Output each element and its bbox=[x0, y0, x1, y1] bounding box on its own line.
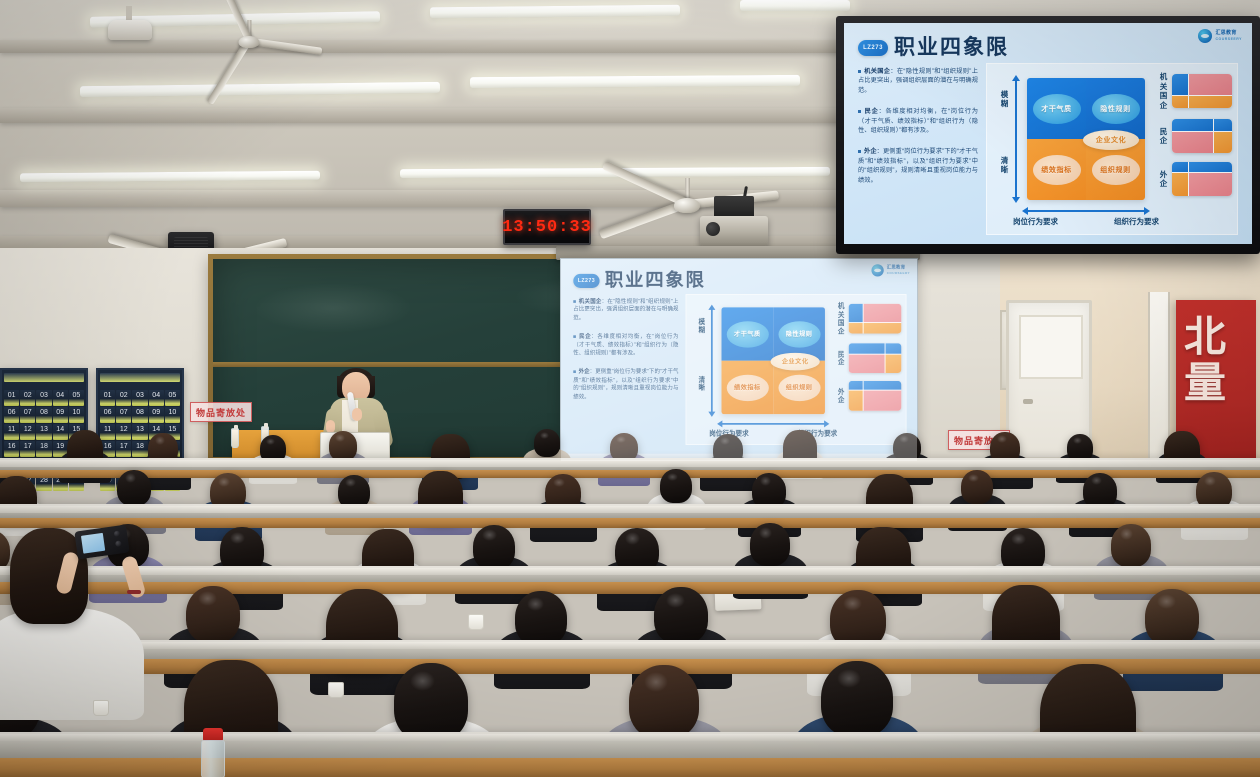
x-axis bbox=[721, 423, 824, 425]
student-head bbox=[117, 470, 151, 506]
hair-highlight bbox=[553, 478, 565, 488]
y-axis bbox=[711, 309, 713, 412]
desk-top-edge bbox=[0, 460, 1260, 467]
treemap-cell bbox=[849, 391, 863, 411]
bullet-marker-icon bbox=[858, 110, 861, 113]
mini-chart-row: 外企 bbox=[837, 381, 904, 411]
storage-pocket[interactable]: 04 bbox=[149, 390, 164, 406]
treemap-cell bbox=[1172, 74, 1188, 95]
storage-pocket[interactable]: 05 bbox=[165, 390, 180, 406]
quadrant-center-label: 企业文化 bbox=[771, 353, 820, 371]
mini-treemap bbox=[1172, 162, 1232, 196]
brand-logo: 汇思教育COURSEERY bbox=[1198, 29, 1242, 43]
presenter-hand bbox=[352, 408, 362, 421]
storage-pocket[interactable]: 05 bbox=[69, 390, 84, 406]
student-head bbox=[1145, 589, 1199, 646]
treemap-cell bbox=[1214, 119, 1232, 131]
treemap-cell bbox=[1189, 74, 1232, 95]
student-desk-row bbox=[0, 566, 1260, 594]
hair-highlight bbox=[540, 432, 549, 439]
water-bottle bbox=[200, 728, 226, 777]
logo-mark-icon bbox=[1198, 29, 1212, 43]
desk-cup bbox=[93, 700, 109, 716]
bullet-marker-icon bbox=[573, 300, 576, 303]
desk-cup bbox=[468, 614, 484, 630]
storage-pocket[interactable]: 14 bbox=[53, 424, 68, 440]
projection-screen: 汇思教育COURSEERYLZ273职业四象限机关国企：在“隐性规则”和“组织规… bbox=[560, 258, 918, 462]
quadrant-center-label: 企业文化 bbox=[1083, 130, 1139, 150]
storage-pocket[interactable]: 12 bbox=[116, 424, 131, 440]
mini-chart-column: 机关国企民企外企 bbox=[1159, 72, 1235, 205]
hair-highlight bbox=[899, 435, 909, 443]
desk-top-edge bbox=[0, 506, 1260, 513]
hair-highlight bbox=[125, 473, 137, 482]
storage-pocket[interactable]: 08 bbox=[36, 407, 51, 423]
hair-highlight bbox=[345, 478, 356, 487]
treemap-cell bbox=[885, 343, 901, 353]
treemap-cell bbox=[863, 381, 901, 390]
treemap-cell bbox=[1189, 173, 1232, 196]
hair-highlight bbox=[410, 671, 435, 691]
mini-chart-row: 民企 bbox=[1159, 119, 1235, 153]
ceiling-projector bbox=[700, 216, 768, 246]
storage-pocket[interactable]: 10 bbox=[69, 407, 84, 423]
security-camera-icon bbox=[108, 20, 152, 40]
slide-badge: LZ273 bbox=[858, 40, 888, 56]
desk-panel bbox=[0, 470, 1260, 478]
storage-pocket[interactable]: 06 bbox=[100, 407, 115, 423]
wall-television: 汇思教育COURSEERYLZ273职业四象限机关国企：在“隐性规则”和“组织规… bbox=[836, 16, 1260, 254]
student-desk-row bbox=[0, 732, 1260, 777]
storage-pocket[interactable]: 09 bbox=[149, 407, 164, 423]
treemap-cell bbox=[1172, 173, 1188, 196]
hair-highlight bbox=[230, 532, 245, 544]
student-desk-row bbox=[0, 504, 1260, 528]
hair-highlight bbox=[1157, 594, 1175, 609]
fluorescent-light bbox=[740, 0, 850, 11]
desk-panel bbox=[0, 518, 1260, 528]
logo-text: 汇思教育COURSEERY bbox=[1215, 30, 1242, 42]
mini-chart-column: 机关国企民企外企 bbox=[837, 302, 904, 419]
lecture-hall-scene: 北量 13:50:33 0102030405060708091011121314… bbox=[0, 0, 1260, 777]
hair-highlight bbox=[198, 591, 216, 606]
fan-hub bbox=[674, 198, 700, 213]
hair-highlight bbox=[527, 597, 545, 611]
student-head bbox=[629, 665, 699, 739]
desk-top-edge bbox=[0, 734, 1260, 741]
storage-pocket[interactable]: 01 bbox=[100, 390, 115, 406]
audience bbox=[0, 440, 1260, 777]
logo-subtext: COURSEERY bbox=[1215, 36, 1242, 42]
student-head bbox=[329, 431, 357, 461]
student-torso bbox=[0, 608, 144, 720]
desk-panel bbox=[0, 758, 1260, 777]
quadrant-label: 组织规则 bbox=[778, 374, 820, 400]
storage-pocket[interactable]: 09 bbox=[53, 407, 68, 423]
logo-subtext: COURSEERY bbox=[887, 270, 910, 275]
hair-highlight bbox=[1204, 476, 1216, 486]
mini-chart-label: 民企 bbox=[1159, 127, 1168, 146]
student-head bbox=[750, 523, 790, 565]
storage-sign: 物品寄放处 bbox=[190, 402, 252, 422]
hair-highlight bbox=[266, 438, 275, 445]
hair-highlight bbox=[482, 529, 496, 541]
storage-pocket[interactable]: 02 bbox=[116, 390, 131, 406]
storage-pocket[interactable]: 03 bbox=[36, 390, 51, 406]
quadrant-top-left: 才干气质 bbox=[721, 307, 773, 360]
mini-treemap bbox=[849, 304, 902, 334]
storage-pocket[interactable]: 02 bbox=[20, 390, 35, 406]
quadrant-chart: 模糊清晰才干气质隐性规则绩效指标组织规则企业文化岗位行为要求组织行为要求机关国企… bbox=[686, 294, 907, 445]
hair-highlight bbox=[843, 596, 862, 611]
y-axis-label-top: 模糊 bbox=[697, 318, 707, 334]
hair-highlight bbox=[759, 527, 773, 538]
fan-hub bbox=[239, 36, 260, 48]
hair-highlight bbox=[997, 435, 1007, 443]
hair-highlight bbox=[1120, 528, 1134, 539]
mini-treemap bbox=[1172, 119, 1232, 153]
slide-projected: 汇思教育COURSEERYLZ273职业四象限机关国企：在“隐性规则”和“组织规… bbox=[561, 259, 918, 454]
banner-text: 北量 bbox=[1184, 314, 1246, 406]
student-head bbox=[515, 591, 567, 646]
slide-bullet: 外企：更侧重“岗位行为要求”下的“才干气质”和“绩效指标”，以及“组织行为要求”… bbox=[858, 147, 978, 185]
slide-on-tv: 汇思教育COURSEERYLZ273职业四象限机关国企：在“隐性规则”和“组织规… bbox=[844, 23, 1252, 244]
logo-text: 汇思教育COURSEERY bbox=[887, 265, 910, 276]
treemap-cell bbox=[849, 381, 863, 390]
hair-highlight bbox=[335, 434, 345, 442]
storage-pocket[interactable]: 07 bbox=[20, 407, 35, 423]
storage-pocket[interactable]: 03 bbox=[132, 390, 147, 406]
mini-treemap bbox=[1172, 74, 1232, 108]
mini-chart-label: 外企 bbox=[1159, 170, 1168, 189]
slide-bullet: 民企：各维度相对均衡，在“岗位行为（才干气质、绩效指标）”和“组织行为（隐性、组… bbox=[858, 107, 978, 135]
slide-bullet: 机关国企：在“隐性规则”和“组织规则”上占比更突出，强调组织层面的潜在与明确规范… bbox=[858, 67, 978, 95]
bullet-marker-icon bbox=[858, 70, 861, 73]
slide-header: LZ273职业四象限 bbox=[573, 271, 705, 290]
tv-screen: 汇思教育COURSEERYLZ273职业四象限机关国企：在“隐性规则”和“组织规… bbox=[844, 23, 1252, 244]
pocket-board-header bbox=[100, 373, 180, 382]
slide-header: LZ273职业四象限 bbox=[858, 37, 1009, 59]
mini-chart-row: 机关国企 bbox=[1159, 72, 1235, 110]
hair-highlight bbox=[667, 473, 678, 482]
storage-pocket[interactable]: 04 bbox=[53, 390, 68, 406]
hair-highlight bbox=[625, 532, 640, 544]
student-head bbox=[473, 525, 515, 570]
quadrant-label: 才干气质 bbox=[726, 321, 768, 347]
hair-highlight bbox=[1091, 476, 1103, 485]
student-head bbox=[961, 470, 993, 504]
hair-highlight bbox=[720, 437, 730, 445]
slide-title: 职业四象限 bbox=[605, 271, 706, 290]
projector-mount bbox=[714, 196, 754, 218]
hair-highlight bbox=[968, 474, 979, 483]
slide-badge: LZ273 bbox=[573, 274, 599, 288]
y-axis bbox=[1015, 80, 1017, 198]
hair-highlight bbox=[666, 593, 684, 608]
hair-highlight bbox=[760, 476, 772, 485]
quadrant-label: 绩效指标 bbox=[726, 374, 768, 400]
slide-title: 职业四象限 bbox=[894, 37, 1009, 59]
clock-time: 13:50:33 bbox=[502, 218, 592, 237]
y-axis-label-bottom: 清晰 bbox=[697, 376, 707, 392]
storage-pocket[interactable]: 13 bbox=[36, 424, 51, 440]
treemap-cell bbox=[849, 343, 885, 353]
student-head bbox=[186, 586, 240, 643]
treemap-cell bbox=[885, 354, 901, 373]
fan-pole bbox=[685, 178, 690, 200]
hair-highlight bbox=[1073, 437, 1082, 444]
treemap-cell bbox=[1189, 96, 1232, 108]
student-head bbox=[1111, 524, 1151, 566]
slide-bullet: 民企：各维度相对均衡，在“岗位行为（才干气质、绩效指标）”和“组织行为（隐性、组… bbox=[573, 333, 678, 358]
desk-panel bbox=[0, 582, 1260, 594]
x-axis-label-left: 岗位行为要求 bbox=[1013, 216, 1058, 227]
mini-treemap bbox=[849, 343, 902, 373]
x-axis-labels: 岗位行为要求组织行为要求 bbox=[1013, 216, 1159, 227]
treemap-cell bbox=[1172, 96, 1188, 108]
mini-treemap bbox=[849, 381, 902, 411]
digital-wall-clock: 13:50:33 bbox=[503, 209, 591, 245]
desk-cup bbox=[328, 682, 344, 698]
hair-highlight bbox=[616, 436, 626, 444]
chalk-smudge bbox=[253, 283, 413, 333]
hair-highlight bbox=[218, 477, 230, 487]
storage-pocket[interactable]: 12 bbox=[20, 424, 35, 440]
x-axis-label-right: 组织行为要求 bbox=[1114, 216, 1159, 227]
hair-highlight bbox=[1011, 533, 1026, 545]
student-head bbox=[534, 429, 560, 457]
mini-chart-label: 机关国企 bbox=[1159, 72, 1168, 110]
phone-camera-icon bbox=[114, 530, 121, 537]
treemap-cell bbox=[863, 323, 901, 333]
logo-mark-icon bbox=[872, 264, 884, 276]
slide-bullet-list: 机关国企：在“隐性规则”和“组织规则”上占比更突出，强调组织层面的潜在与明确规范… bbox=[858, 67, 978, 197]
treemap-cell bbox=[849, 354, 885, 373]
fluorescent-light bbox=[470, 75, 800, 88]
student-head bbox=[821, 661, 893, 737]
storage-pocket[interactable]: 08 bbox=[132, 407, 147, 423]
quadrant-label: 组织规则 bbox=[1092, 155, 1140, 185]
storage-pocket[interactable]: 06 bbox=[4, 407, 19, 423]
slide-bullet-list: 机关国企：在“隐性规则”和“组织规则”上占比更突出，强调组织层面的潜在与明确规范… bbox=[573, 298, 678, 412]
mini-chart-label: 外企 bbox=[837, 387, 845, 404]
storage-pocket[interactable]: 07 bbox=[116, 407, 131, 423]
mini-chart-row: 民企 bbox=[837, 343, 904, 373]
treemap-cell bbox=[1172, 162, 1188, 172]
hair-highlight bbox=[155, 436, 165, 444]
storage-pocket[interactable]: 11 bbox=[4, 424, 19, 440]
quadrant-bottom-left: 绩效指标 bbox=[1027, 139, 1086, 200]
door-panel bbox=[1019, 315, 1083, 379]
storage-pocket[interactable]: 13 bbox=[132, 424, 147, 440]
treemap-cell bbox=[849, 304, 863, 322]
bullet-marker-icon bbox=[573, 371, 576, 374]
desk-top-edge bbox=[0, 642, 1260, 649]
mini-chart-row: 机关国企 bbox=[837, 302, 904, 335]
slide-bullet: 外企：更侧重“岗位行为要求”下的“才干气质”和“绩效指标”，以及“组织行为要求”… bbox=[573, 368, 678, 401]
hair-highlight bbox=[837, 669, 861, 689]
treemap-cell bbox=[1189, 162, 1232, 172]
door-handle[interactable] bbox=[1023, 399, 1033, 404]
bullet-marker-icon bbox=[858, 150, 861, 153]
slide-bullet: 机关国企：在“隐性规则”和“组织规则”上占比更突出，强调组织层面的潜在与明确规范… bbox=[573, 298, 678, 323]
brand-logo: 汇思教育COURSEERY bbox=[872, 264, 910, 276]
mini-chart-row: 外企 bbox=[1159, 162, 1235, 196]
treemap-cell bbox=[849, 323, 863, 333]
storage-pocket[interactable]: 11 bbox=[100, 424, 115, 440]
phone-screen bbox=[81, 533, 105, 554]
pocket-board-header bbox=[4, 373, 84, 382]
quadrant-bottom-left: 绩效指标 bbox=[721, 361, 773, 414]
student-desk-row bbox=[0, 458, 1260, 478]
quadrant-label: 绩效指标 bbox=[1033, 155, 1081, 185]
mini-chart-label: 民企 bbox=[837, 350, 845, 367]
treemap-cell bbox=[863, 304, 901, 322]
quadrant-top-left: 才干气质 bbox=[1027, 78, 1086, 139]
treemap-cell bbox=[1214, 132, 1232, 153]
bottle-body bbox=[201, 740, 225, 777]
quadrant-label: 才干气质 bbox=[1033, 94, 1081, 124]
quadrant-chart: 模糊清晰才干气质隐性规则绩效指标组织规则企业文化岗位行为要求组织行为要求机关国企… bbox=[986, 63, 1238, 235]
y-axis-label-top: 模糊 bbox=[999, 90, 1010, 108]
storage-pocket[interactable]: 01 bbox=[4, 390, 19, 406]
treemap-cell bbox=[1172, 119, 1213, 131]
desk-top-edge bbox=[0, 568, 1260, 575]
y-axis-label-bottom: 清晰 bbox=[999, 156, 1010, 174]
student-head bbox=[660, 469, 692, 503]
student-head bbox=[654, 587, 708, 644]
hair-highlight bbox=[644, 672, 668, 691]
quadrant-label: 隐性规则 bbox=[1092, 94, 1140, 124]
wristband bbox=[127, 590, 141, 594]
quadrant-label: 隐性规则 bbox=[778, 321, 820, 347]
student-head bbox=[394, 663, 468, 741]
storage-pocket[interactable]: 10 bbox=[165, 407, 180, 423]
x-axis bbox=[1027, 210, 1145, 212]
mini-chart-label: 机关国企 bbox=[837, 302, 845, 335]
bullet-marker-icon bbox=[573, 335, 576, 338]
treemap-cell bbox=[863, 391, 901, 411]
treemap-cell bbox=[1172, 132, 1213, 153]
phone-camera-icon bbox=[115, 540, 122, 547]
